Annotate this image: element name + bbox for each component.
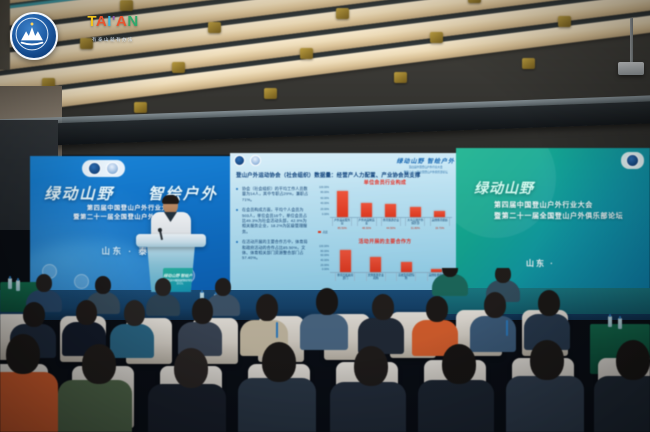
chart-bar [410, 207, 421, 217]
gold-ceiling-fixture [430, 32, 443, 43]
chart-value-labels: 85.50% 48.30% 44.50% 31.80% 19.70% [330, 226, 452, 230]
taian-wordmark-subtitle: 有泰山就有办法 [76, 37, 150, 43]
right-panel-calligraphy: 绿动山野 [474, 178, 534, 198]
china-mountaineering-association-logo [88, 162, 101, 175]
value-label: 31.80% [406, 226, 424, 230]
attendee-shoulders [58, 380, 132, 432]
speaker-hair [162, 195, 179, 204]
y-tick: 0.00% [316, 214, 329, 217]
y-tick: 60.00% [316, 255, 329, 258]
water-bottle [16, 280, 20, 291]
gold-ceiling-fixture [394, 72, 407, 83]
chart-plot-area: 100.00% 80.00% 60.00% 40.00% 20.00% 0.00… [330, 187, 452, 218]
event-secondary-logo [106, 162, 119, 175]
right-panel-logos [621, 152, 644, 169]
slide-bullet: 协会（社会组织）的平均工作人员数量为14人，其中专职占29%，兼职占71%。 [236, 186, 310, 202]
attendee-head [256, 294, 278, 321]
y-tick: 20.00% [316, 209, 329, 212]
attendee-head [495, 268, 511, 283]
slide-header-logos [234, 155, 261, 166]
attendee-head [95, 276, 111, 294]
right-subtitle-line-1: 第四届中国登山户外行业大会 [494, 200, 623, 211]
water-bottle [8, 278, 12, 289]
value-label: 85.50% [333, 226, 351, 230]
attendee-shoulders [330, 382, 406, 432]
chart-title: 活动开展的主要合作方 [316, 238, 454, 245]
taian-colorful-wordmark: TAI'AN 有泰山就有办法 [76, 14, 150, 54]
chart-x-labels: 户外运动服务业 户外用品制造业 体育旅游企业 大众山地户外俱乐部 其他体育组织 [330, 218, 452, 226]
lanyard [276, 322, 278, 338]
gold-ceiling-fixture [522, 58, 535, 69]
attendee-head [36, 274, 52, 292]
y-tick: 40.00% [316, 203, 329, 206]
gold-ceiling-fixture [300, 48, 313, 59]
projector-mount-rod [630, 18, 633, 64]
legend-label: 占比 [323, 230, 328, 234]
attendee-shoulders [148, 384, 226, 432]
slide-corner-sub-1: 第四届中国登山户外行业大会 [396, 166, 455, 170]
attendee-head [484, 292, 506, 318]
water-bottle [608, 316, 612, 327]
right-subtitle-line-2: 暨第二十一届全国登山户外俱乐部论坛 [494, 211, 623, 222]
slide-bullet-list: 协会（社会组织）的平均工作人员数量为14人，其中专职占29%，兼职占71%。 在… [236, 186, 310, 266]
subtitle-line-1: 第四届中国登山户外行业大会 [30, 204, 232, 213]
attendee-shoulders [110, 324, 154, 358]
gold-ceiling-fixture [558, 16, 571, 27]
gold-ceiling-fixture [264, 88, 277, 99]
gold-ceiling-fixture [172, 62, 185, 73]
gold-ceiling-fixture [134, 102, 147, 113]
chart-bar [385, 204, 396, 217]
podium-top [136, 234, 206, 247]
attendee-shoulders [470, 316, 516, 352]
attendee-head [6, 334, 40, 374]
x-label: 户外用品制造业 [357, 218, 377, 226]
ceiling-projector [618, 62, 644, 75]
china-mountaineering-association-logo [626, 154, 639, 167]
attendee-head [372, 294, 394, 320]
subtitle-line-2: 暨第二十一届全国登山户外俱乐部论坛 [30, 213, 232, 222]
slide-corner-calligraphy: 绿动山野 智绘户外 [396, 156, 455, 165]
water-bottle [618, 318, 622, 329]
attendee-head [616, 340, 650, 380]
calligraphy-left: 绿动山野 [44, 186, 114, 203]
gold-ceiling-fixture [120, 0, 133, 11]
y-tick: 20.00% [316, 265, 329, 268]
chart-unit-member-industry: 单位会员行业构成 100.00% 80.00% 60.00% 40.00% 20… [316, 179, 454, 233]
chart-y-axis: 100.00% 80.00% 60.00% 40.00% 20.00% 0.00… [316, 187, 329, 217]
stage-screen-subtitle: 第四届中国登山户外行业大会 暨第二十一届全国登山户外俱乐部论坛 [30, 204, 232, 222]
conference-photo-scene: 绿动山野 智绘户外 第四届中国登山户外行业大会 暨第二十一届全国登山户外俱乐部论… [0, 0, 650, 432]
chart-title: 单位会员行业构成 [316, 179, 454, 186]
slide-title: 登山户外运动协会（社会组织）数据量：经营产人力配置、产业协会员支撑 [236, 171, 452, 179]
attendee-head [174, 348, 208, 388]
attendee-shoulders [0, 372, 58, 432]
attendee-head [155, 278, 171, 296]
y-tick: 80.00% [316, 192, 329, 195]
gold-ceiling-fixture [208, 22, 221, 33]
attendee-shoulders [238, 378, 316, 432]
value-label: 19.70% [431, 226, 449, 230]
audience [0, 268, 650, 432]
stage-screen-logos [82, 160, 125, 177]
attendee-head [76, 300, 97, 325]
gold-ceiling-fixture [336, 8, 349, 19]
chart-legend: 占比 [318, 230, 328, 234]
association-logo [234, 155, 245, 166]
attendee-shoulders [506, 376, 584, 432]
attendee-head [192, 298, 213, 324]
attendee-head [262, 342, 296, 382]
gold-ceiling-fixture [468, 0, 481, 3]
y-tick: 40.00% [316, 260, 329, 263]
attendee-head [124, 300, 145, 326]
attendee-head [316, 288, 338, 315]
y-tick: 100.00% [316, 246, 329, 249]
attendee-head [538, 290, 560, 316]
chart-bars [330, 187, 452, 217]
lanyard [506, 320, 508, 336]
value-label: 44.50% [382, 226, 400, 230]
attendee-head [442, 344, 476, 384]
slide-bullet: 在会员构成方面，平均个人会员为503人，单位会员16个，单位会员占比49.3%为… [236, 207, 310, 234]
conference-logo [250, 155, 261, 166]
attendee-shoulders [300, 314, 348, 350]
attendee-shoulders [146, 294, 180, 316]
attendee-head [23, 302, 45, 327]
chart-bar [337, 191, 348, 217]
attendee-shoulders [594, 376, 650, 432]
x-label: 其他体育组织 [430, 218, 450, 226]
chart-bar [434, 211, 445, 217]
attendee-head [354, 346, 388, 386]
y-tick: 60.00% [316, 198, 329, 201]
y-tick: 100.00% [316, 187, 329, 190]
y-tick: 80.00% [316, 251, 329, 254]
attendee-head [426, 296, 448, 322]
x-label: 大众山地户外俱乐部 [405, 218, 425, 226]
value-label: 48.30% [358, 226, 376, 230]
attendee-head [530, 340, 564, 380]
attendee-head [215, 278, 231, 296]
tai-shan-emblem-logo [10, 12, 58, 60]
attendee-shoulders [432, 274, 468, 296]
stage-screen-calligraphy: 绿动山野 智绘户外 [30, 182, 232, 204]
x-label: 体育旅游企业 [381, 218, 401, 226]
slide-bullet: 在活动开展的主要合作方中，体育局和政府活动的合作占比85.50%，文体、体育相关… [236, 239, 310, 261]
attendee-shoulders [418, 380, 494, 432]
attendee-head [82, 344, 116, 384]
right-panel-subtitle: 第四届中国登山户外行业大会 暨第二十一届全国登山户外俱乐部论坛 [494, 200, 623, 222]
x-label: 户外运动服务业 [332, 218, 352, 226]
chart-bar [361, 203, 372, 217]
